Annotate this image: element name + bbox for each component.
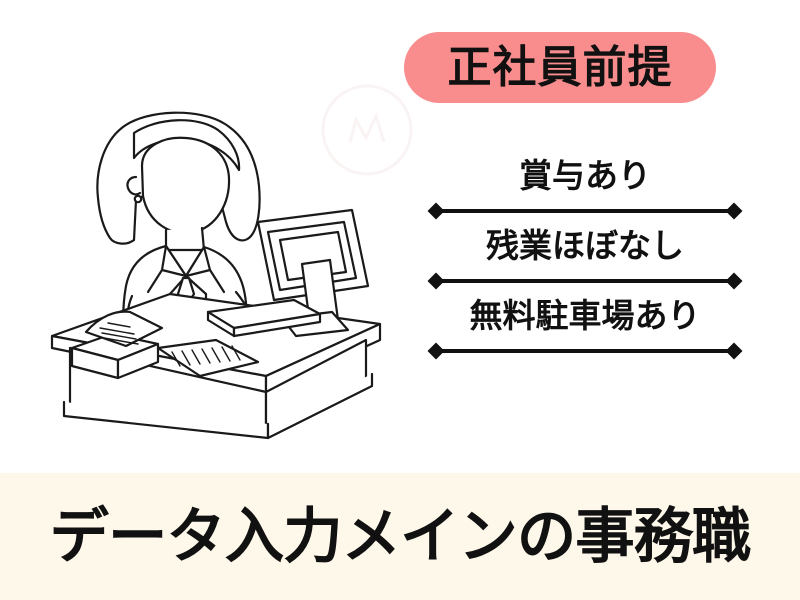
earring	[135, 196, 141, 202]
feature-item-1: 賞与あり	[420, 150, 750, 202]
divider-2	[430, 272, 740, 290]
diamond-icon	[726, 203, 743, 220]
poster-canvas: 正社員前提 賞与あり 残業ほぼなし 無料駐車場あり データ入力	[0, 0, 800, 600]
feature-item-3: 無料駐車場あり	[420, 290, 750, 342]
feature-label: 残業ほぼなし	[420, 220, 750, 272]
divider-line	[437, 209, 733, 213]
divider-1	[430, 202, 740, 220]
bottom-banner: データ入力メインの事務職	[0, 473, 800, 600]
feature-label: 無料駐車場あり	[420, 290, 750, 342]
diamond-icon	[726, 343, 743, 360]
badge-label: 正社員前提	[448, 46, 673, 90]
divider-line	[437, 279, 733, 283]
feature-item-2: 残業ほぼなし	[420, 220, 750, 272]
feature-list: 賞与あり 残業ほぼなし 無料駐車場あり	[420, 150, 750, 360]
feature-label: 賞与あり	[420, 150, 750, 202]
diamond-icon	[726, 273, 743, 290]
illustration-office-worker	[30, 80, 390, 440]
banner-title: データ入力メインの事務職	[50, 507, 751, 567]
status-badge: 正社員前提	[404, 32, 716, 103]
office-worker-illustration-svg	[30, 80, 390, 440]
divider-3	[430, 342, 740, 360]
face	[142, 138, 229, 233]
neck	[166, 228, 204, 250]
divider-line	[437, 349, 733, 353]
